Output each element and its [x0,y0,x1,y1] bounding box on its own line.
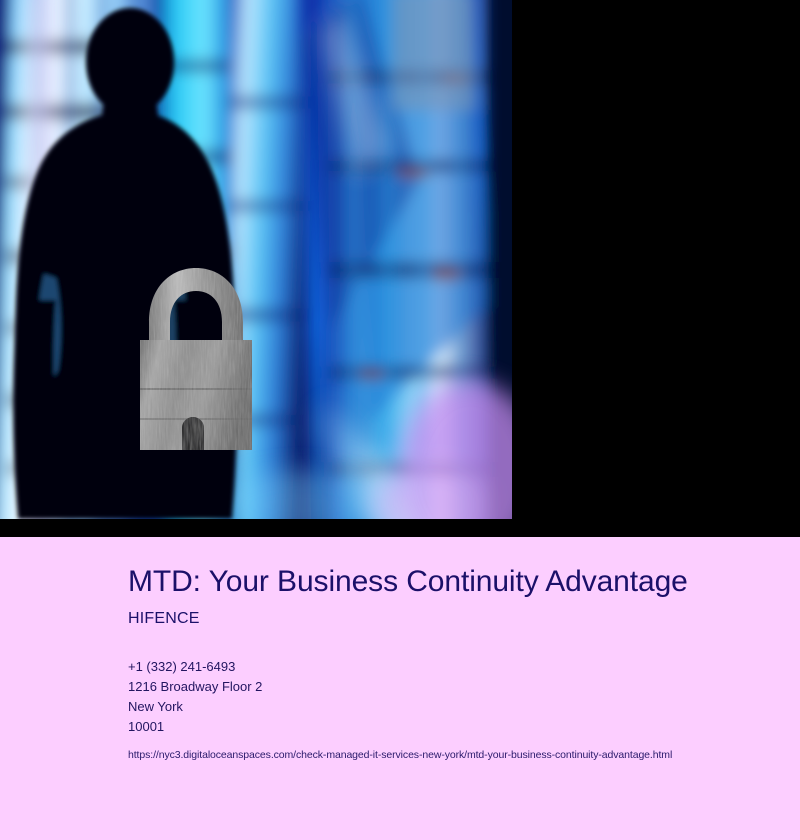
info-panel: MTD: Your Business Continuity Advantage … [0,537,800,840]
address-postal-code: 10001 [128,717,672,737]
brand-name: HIFENCE [128,601,672,629]
source-url[interactable]: https://nyc3.digitaloceanspaces.com/chec… [128,737,672,763]
hero-image-artwork [0,0,512,519]
contact-block: +1 (332) 241-6493 1216 Broadway Floor 2 … [128,629,672,737]
hero-band [0,0,800,537]
address-street: 1216 Broadway Floor 2 [128,677,672,697]
address-city: New York [128,697,672,717]
hero-image [0,0,512,519]
page-title: MTD: Your Business Continuity Advantage [128,537,672,601]
phone-number[interactable]: +1 (332) 241-6493 [128,657,672,677]
